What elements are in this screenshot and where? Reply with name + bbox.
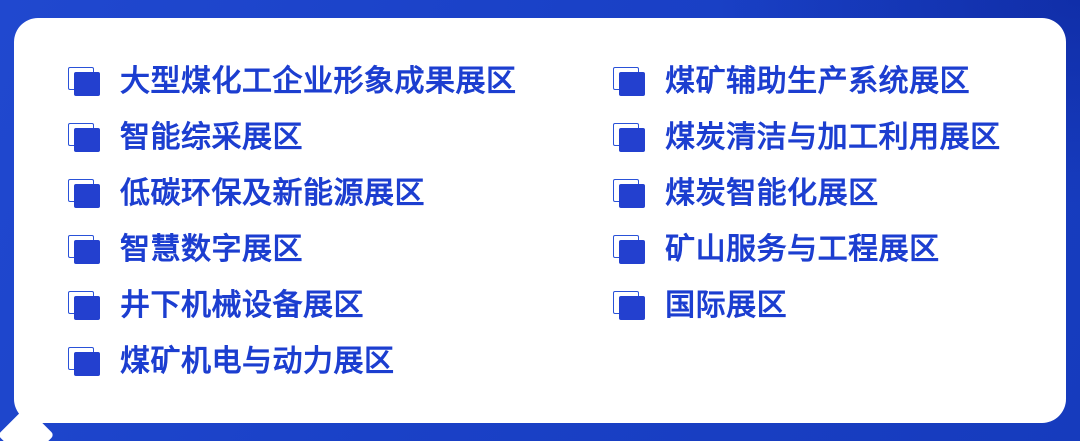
- zone-label: 矿山服务与工程展区: [665, 235, 940, 265]
- layered-square-bullet-icon: [613, 67, 647, 97]
- zone-item[interactable]: 煤炭清洁与加工利用展区: [613, 110, 1046, 166]
- zone-item[interactable]: 井下机械设备展区: [68, 278, 613, 334]
- zone-columns: 大型煤化工企业形象成果展区 智能综采展区 低碳环保及新能源展区: [68, 54, 1046, 390]
- zone-label: 低碳环保及新能源展区: [120, 179, 425, 209]
- zone-item[interactable]: 煤矿机电与动力展区: [68, 334, 613, 390]
- layered-square-bullet-icon: [68, 67, 102, 97]
- zone-item[interactable]: 煤矿辅助生产系统展区: [613, 54, 1046, 110]
- zone-item[interactable]: 国际展区: [613, 278, 1046, 334]
- layered-square-bullet-icon: [613, 291, 647, 321]
- zone-item[interactable]: 煤炭智能化展区: [613, 166, 1046, 222]
- layered-square-bullet-icon: [613, 123, 647, 153]
- zone-item[interactable]: 低碳环保及新能源展区: [68, 166, 613, 222]
- zone-label: 智能综采展区: [120, 123, 303, 153]
- zone-label: 大型煤化工企业形象成果展区: [120, 67, 517, 97]
- layered-square-bullet-icon: [68, 291, 102, 321]
- layered-square-bullet-icon: [68, 123, 102, 153]
- zone-label: 井下机械设备展区: [120, 291, 364, 321]
- zone-column-left: 大型煤化工企业形象成果展区 智能综采展区 低碳环保及新能源展区: [68, 54, 613, 390]
- layered-square-bullet-icon: [68, 235, 102, 265]
- layered-square-bullet-icon: [613, 235, 647, 265]
- exhibition-zone-board: 大型煤化工企业形象成果展区 智能综采展区 低碳环保及新能源展区: [0, 0, 1080, 441]
- zone-item[interactable]: 矿山服务与工程展区: [613, 222, 1046, 278]
- zone-item[interactable]: 智慧数字展区: [68, 222, 613, 278]
- zone-label: 煤矿辅助生产系统展区: [665, 67, 970, 97]
- zone-item[interactable]: 智能综采展区: [68, 110, 613, 166]
- layered-square-bullet-icon: [68, 179, 102, 209]
- zone-column-right: 煤矿辅助生产系统展区 煤炭清洁与加工利用展区 煤炭智能化展区: [613, 54, 1046, 390]
- zone-label: 煤矿机电与动力展区: [120, 347, 395, 377]
- zone-item[interactable]: 大型煤化工企业形象成果展区: [68, 54, 613, 110]
- zone-label: 煤炭清洁与加工利用展区: [665, 123, 1001, 153]
- zone-label: 国际展区: [665, 291, 787, 321]
- content-panel: 大型煤化工企业形象成果展区 智能综采展区 低碳环保及新能源展区: [14, 18, 1066, 423]
- zone-label: 煤炭智能化展区: [665, 179, 879, 209]
- layered-square-bullet-icon: [613, 179, 647, 209]
- layered-square-bullet-icon: [68, 347, 102, 377]
- zone-label: 智慧数字展区: [120, 235, 303, 265]
